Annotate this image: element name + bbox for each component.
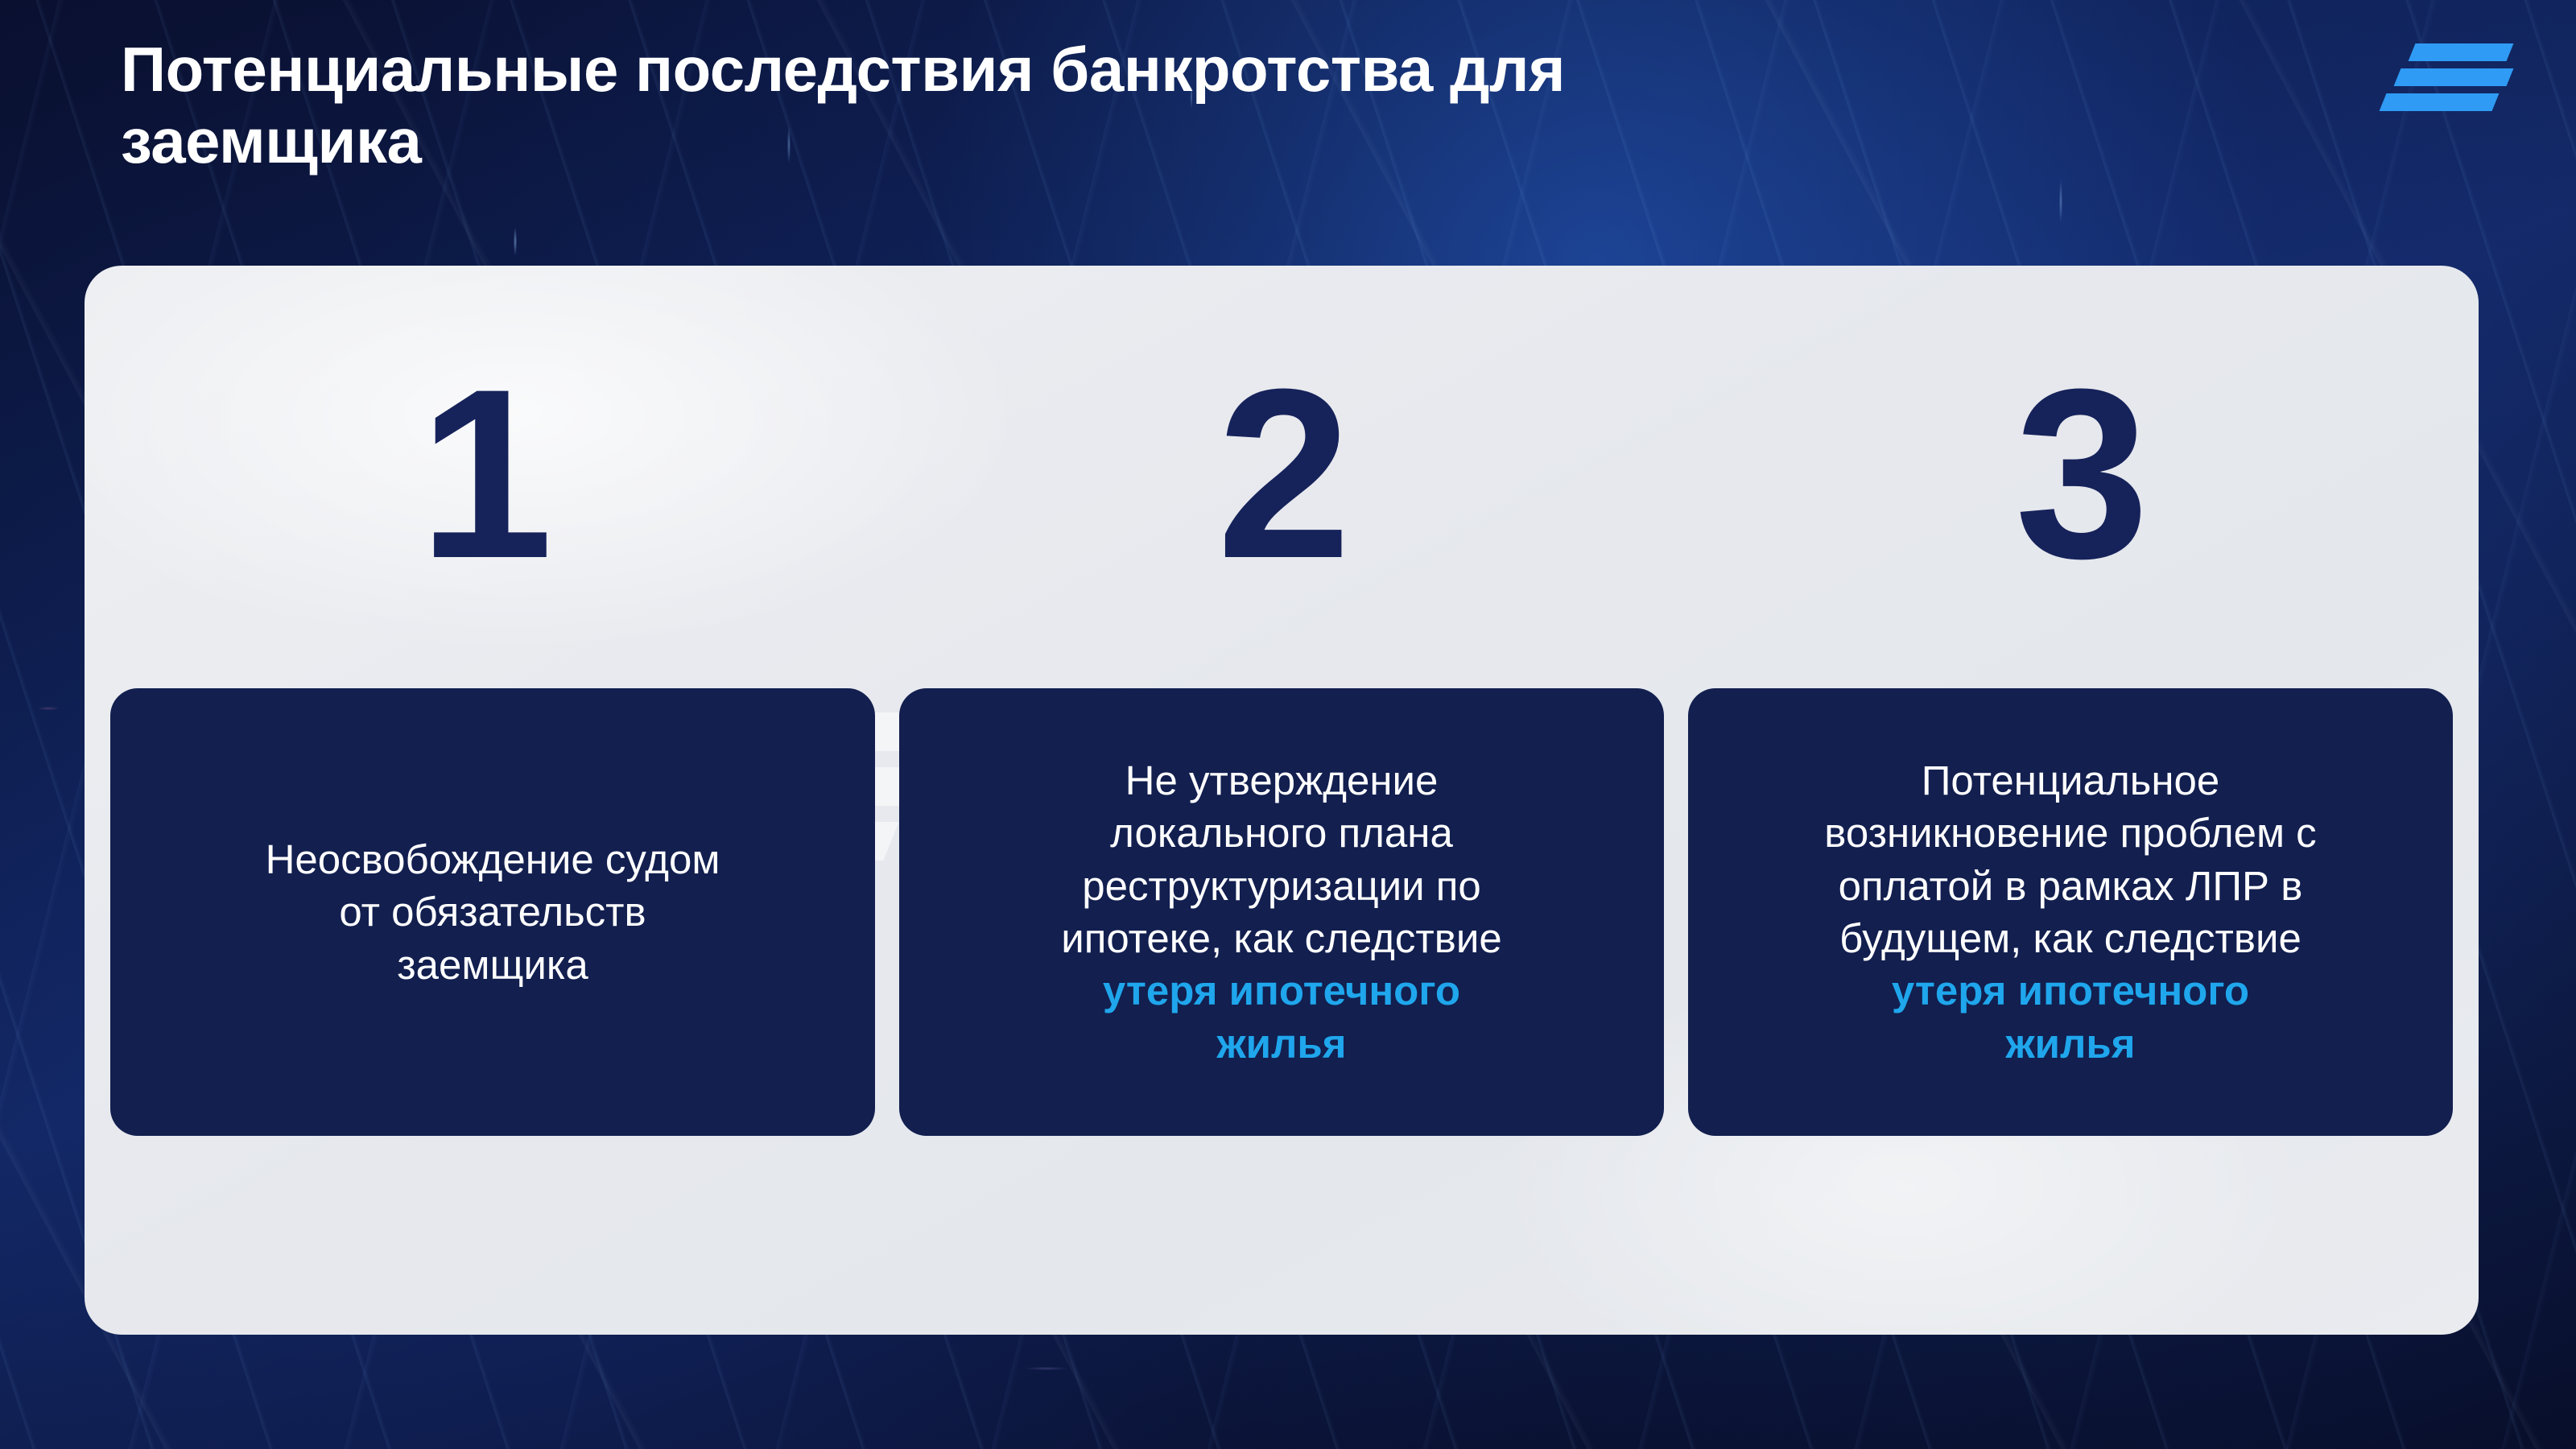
card-text-2: Не утверждение локального плана реструкт…	[1061, 702, 1501, 1122]
consequence-card-2[interactable]: Не утверждение локального плана реструкт…	[899, 688, 1664, 1136]
card-body-1: Неосвобождение судом от обязательств зае…	[266, 836, 720, 988]
vtb-logo-bar-middle	[2394, 68, 2514, 86]
step-number-1: 1	[419, 353, 548, 594]
slide-root: Потенциальные последствия банкротства дл…	[0, 0, 2576, 1449]
step-number-3: 3	[2015, 353, 2145, 594]
consequence-cards-row: Неосвобождение судом от обязательств зае…	[110, 688, 2453, 1136]
vtb-logo-bar-top	[2409, 43, 2514, 61]
card-accent-2: утеря ипотечного жилья	[1061, 964, 1501, 1070]
card-body-3: Потенциальное возникновение проблем с оп…	[1824, 758, 2316, 961]
step-numbers-row: 1 2 3	[85, 353, 2479, 594]
content-panel: ВТБ 1 2 3 Неосвобождение судом от обязат…	[85, 266, 2479, 1335]
card-text-3: Потенциальное возникновение проблем с оп…	[1824, 702, 2316, 1122]
vtb-logo-icon	[2383, 42, 2516, 113]
card-body-2: Не утверждение локального плана реструкт…	[1061, 758, 1501, 961]
card-accent-3: утеря ипотечного жилья	[1824, 964, 2316, 1070]
consequence-card-3[interactable]: Потенциальное возникновение проблем с оп…	[1688, 688, 2453, 1136]
vtb-logo-bar-bottom	[2380, 93, 2500, 111]
step-number-cell: 3	[1681, 353, 2479, 594]
step-number-cell: 1	[85, 353, 882, 594]
page-title: Потенциальные последствия банкротства дл…	[121, 34, 2294, 177]
step-number-cell: 2	[882, 353, 1680, 594]
consequence-card-1[interactable]: Неосвобождение судом от обязательств зае…	[110, 688, 875, 1136]
card-text-1: Неосвобождение судом от обязательств зае…	[266, 781, 720, 1043]
step-number-2: 2	[1217, 353, 1347, 594]
